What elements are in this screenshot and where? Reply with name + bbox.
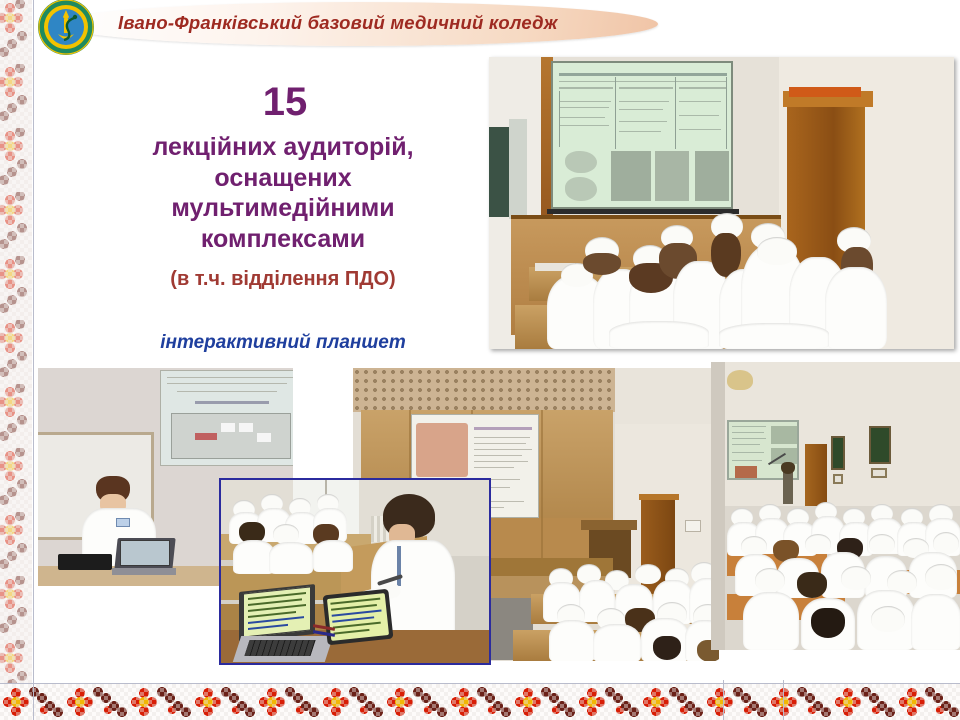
embroidery-checker-texture <box>0 684 960 720</box>
headline-text: лекційних аудиторій, оснащених мультимед… <box>88 132 478 254</box>
photo-interactive-tablet-in-use <box>219 478 491 665</box>
headline-line-4: комплексами <box>88 224 478 255</box>
headline-line-1: лекційних аудиторій, <box>88 132 478 163</box>
photo-crowded-lecture-hall <box>711 362 960 650</box>
headline-note: (в т.ч. відділення ПДО) <box>88 268 478 291</box>
photo-lecture-hall-with-projector <box>489 57 954 349</box>
embroidery-checker-texture <box>0 0 32 720</box>
classroom-count: 15 <box>100 82 470 122</box>
college-emblem-logo <box>30 0 102 58</box>
headline-line-2: оснащених <box>88 163 478 194</box>
embroidery-border-bottom <box>0 684 960 720</box>
headline-line-3: мультимедійними <box>88 193 478 224</box>
slide-guide-line-b2 <box>783 680 784 720</box>
presentation-slide: Івано-Франківський базовий медичний коле… <box>0 0 960 720</box>
slide-guide-line-b1 <box>723 680 724 720</box>
slide-guide-line-bottom <box>0 683 960 684</box>
embroidery-border-left <box>0 0 32 720</box>
slide-guide-line-left <box>33 0 34 720</box>
headline-caption: інтерактивний планшет <box>88 332 478 354</box>
institution-name: Івано-Франківський базовий медичний коле… <box>118 12 658 34</box>
